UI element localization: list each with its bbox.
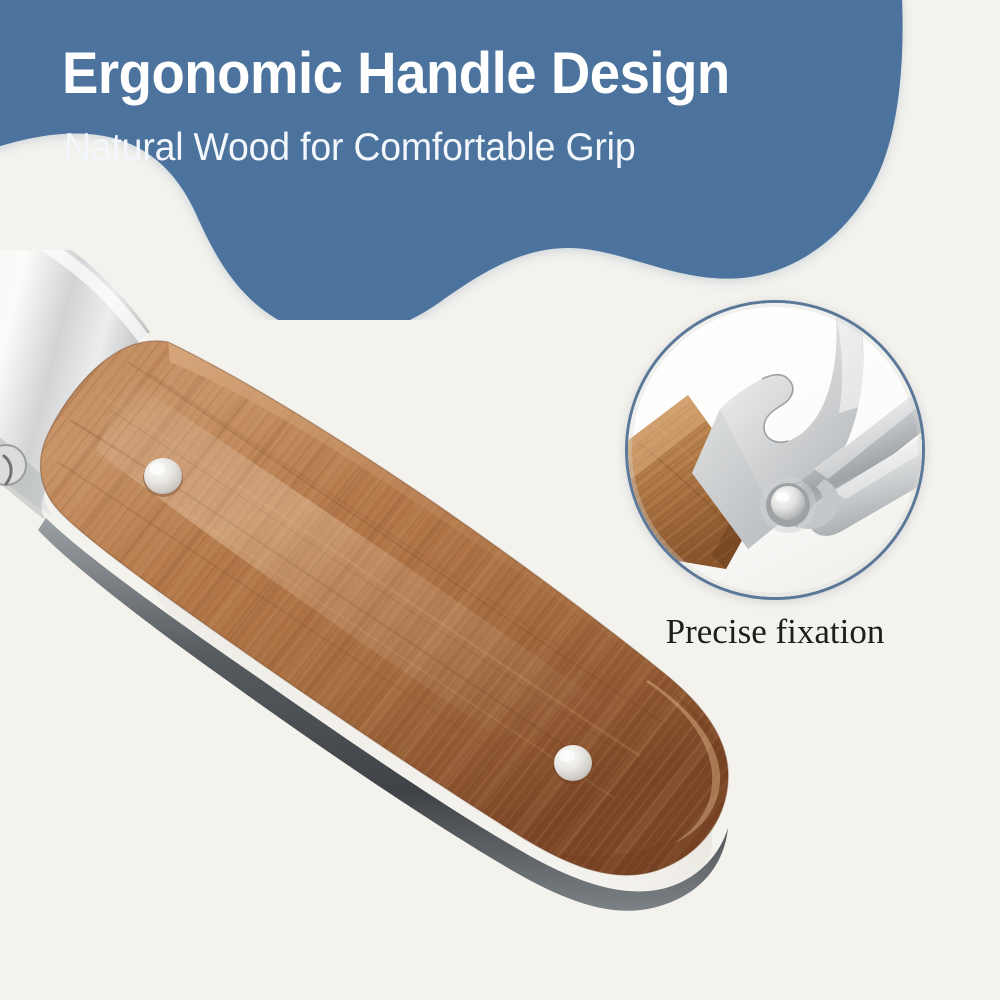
inset-caption-label: Precise fixation	[625, 612, 925, 652]
inset-pivot-rivet	[760, 477, 816, 533]
product-feature-canvas: Ergonomic Handle Design Natural Wood for…	[0, 0, 1000, 1000]
detail-inset-circle	[625, 300, 925, 600]
handle-rivet-upper	[143, 458, 183, 497]
handle-rivet-lower	[553, 745, 593, 784]
detail-inset-illustration	[628, 303, 922, 597]
